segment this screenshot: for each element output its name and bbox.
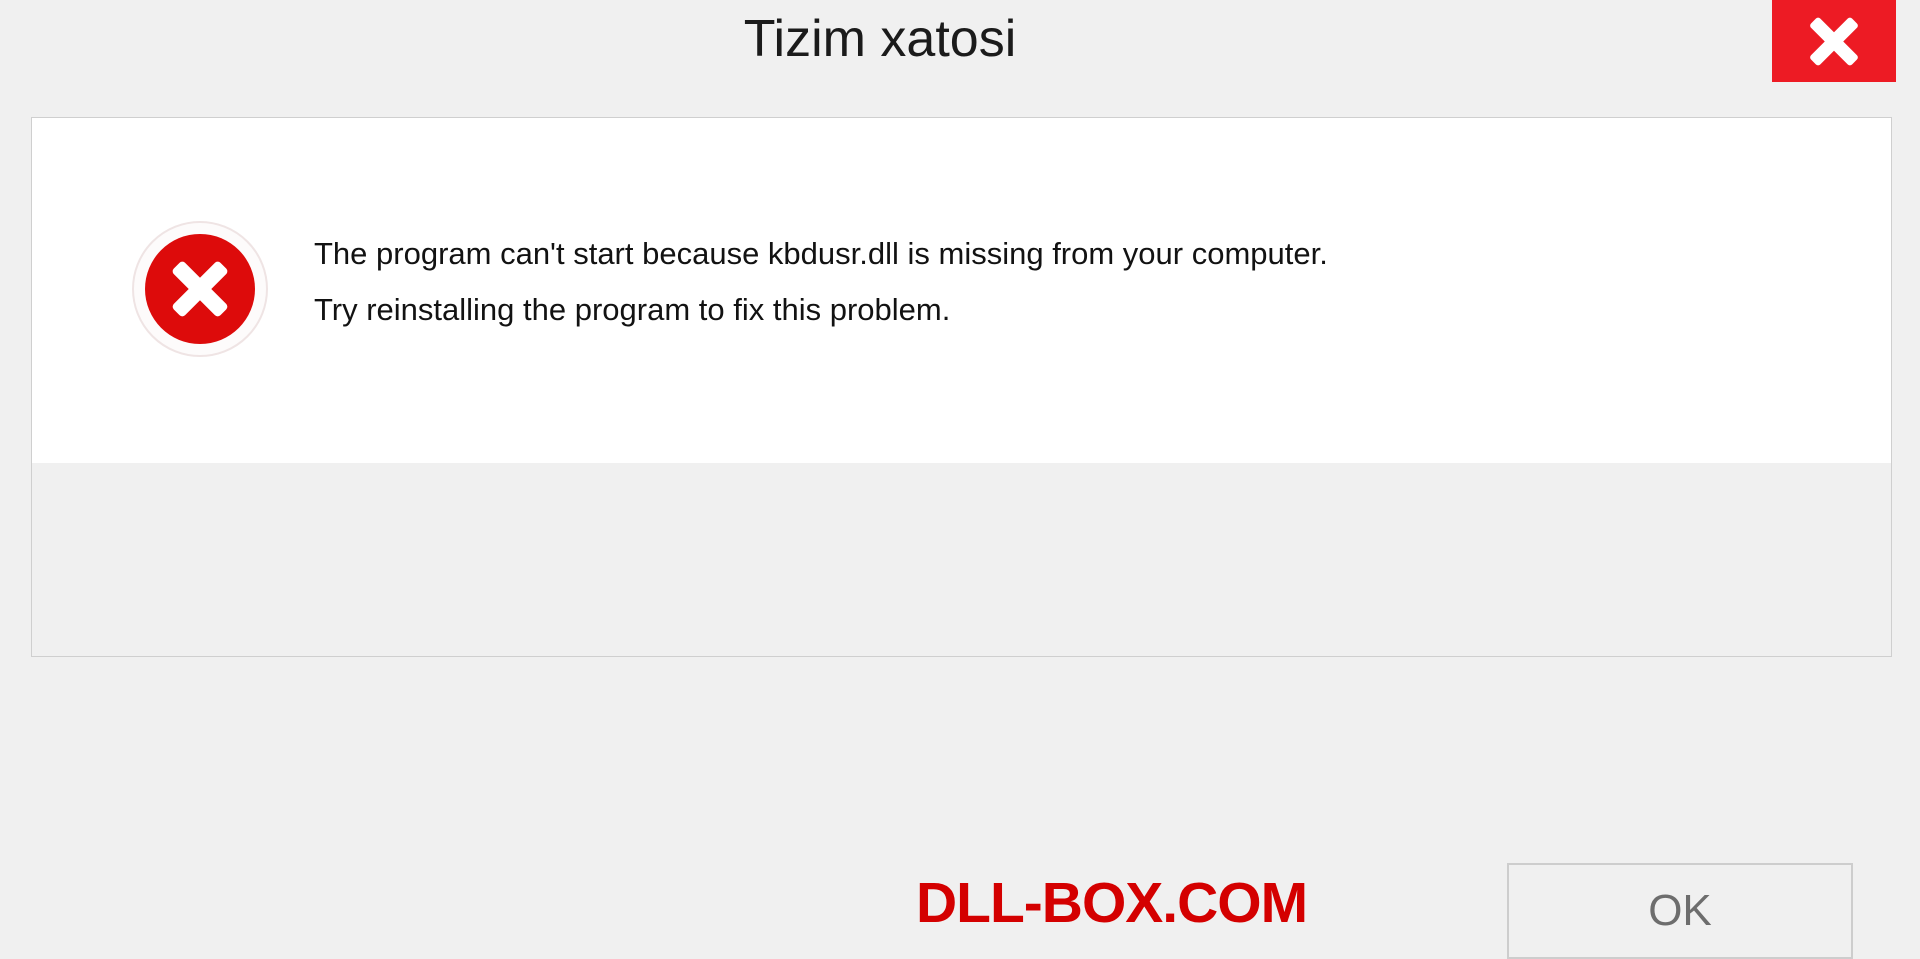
error-icon-disc: [145, 234, 255, 344]
close-button[interactable]: [1772, 0, 1896, 82]
dialog-title: Tizim xatosi: [0, 8, 1760, 70]
dialog-titlebar: Tizim xatosi: [0, 0, 1920, 92]
ok-button[interactable]: OK: [1507, 863, 1853, 959]
dialog-footer: DLL-BOX.COM OK: [32, 463, 1891, 656]
error-message: The program can't start because kbdusr.d…: [314, 226, 1834, 338]
error-message-line-1: The program can't start because kbdusr.d…: [314, 226, 1834, 282]
dialog-frame: The program can't start because kbdusr.d…: [31, 117, 1892, 657]
message-panel: The program can't start because kbdusr.d…: [32, 118, 1891, 463]
watermark-dll-box: DLL-BOX.COM: [916, 872, 1307, 934]
error-message-line-2: Try reinstalling the program to fix this…: [314, 282, 1834, 338]
close-icon: [1772, 0, 1896, 82]
error-circle-x-icon: [132, 221, 268, 357]
